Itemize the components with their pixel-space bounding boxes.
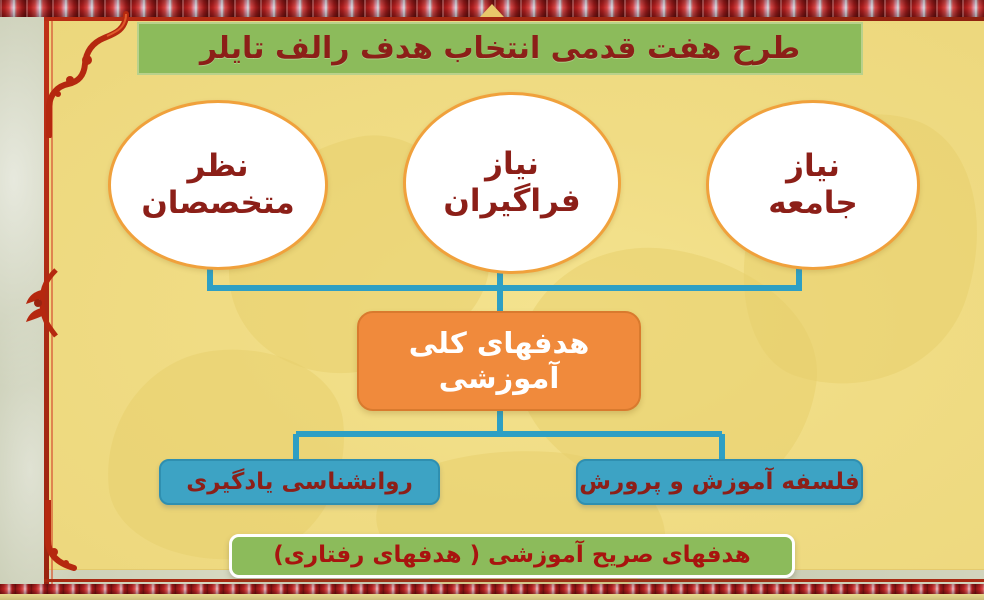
- page-title: طرح هفت قدمی انتخاب هدف رالف تایلر: [137, 22, 863, 75]
- outcome-node-behavioral-objectives[interactable]: هدفهای صریح آموزشی ( هدفهای رفتاری): [229, 534, 795, 578]
- source-line-1: نیاز: [786, 148, 840, 184]
- source-node-label: نیاز جامعه: [768, 148, 857, 221]
- general-goals-label: هدفهای کلی آموزشی: [409, 326, 590, 397]
- source-line-2: فراگیران: [443, 183, 580, 219]
- source-line-1: نیاز: [485, 146, 539, 182]
- filter-node-label: فلسفه آموزش و پرورش: [579, 469, 859, 495]
- source-node-expert-opinion[interactable]: نظر متخصصان: [108, 100, 328, 270]
- page-title-text: طرح هفت قدمی انتخاب هدف رالف تایلر: [200, 32, 800, 65]
- slide-canvas: طرح هفت قدمی انتخاب هدف رالف تایلر نظر م…: [0, 0, 984, 600]
- general-goals-line-1: هدفهای کلی: [409, 326, 590, 360]
- filter-node-education-philosophy[interactable]: فلسفه آموزش و پرورش: [576, 459, 863, 505]
- source-line-1: نظر: [187, 148, 248, 184]
- source-node-society-needs[interactable]: نیاز جامعه: [706, 100, 920, 270]
- general-goals-node[interactable]: هدفهای کلی آموزشی: [357, 311, 641, 411]
- filter-node-label: روانشناسی یادگیری: [186, 469, 413, 495]
- general-goals-line-2: آموزشی: [439, 361, 560, 395]
- source-node-label: نیاز فراگیران: [443, 146, 580, 219]
- source-line-2: جامعه: [768, 185, 857, 221]
- connector-lines: [0, 0, 984, 600]
- filter-node-learning-psychology[interactable]: روانشناسی یادگیری: [159, 459, 440, 505]
- outcome-node-label: هدفهای صریح آموزشی ( هدفهای رفتاری): [273, 543, 751, 568]
- source-line-2: متخصصان: [141, 185, 294, 221]
- source-node-label: نظر متخصصان: [141, 148, 294, 221]
- source-node-learner-needs[interactable]: نیاز فراگیران: [403, 92, 621, 274]
